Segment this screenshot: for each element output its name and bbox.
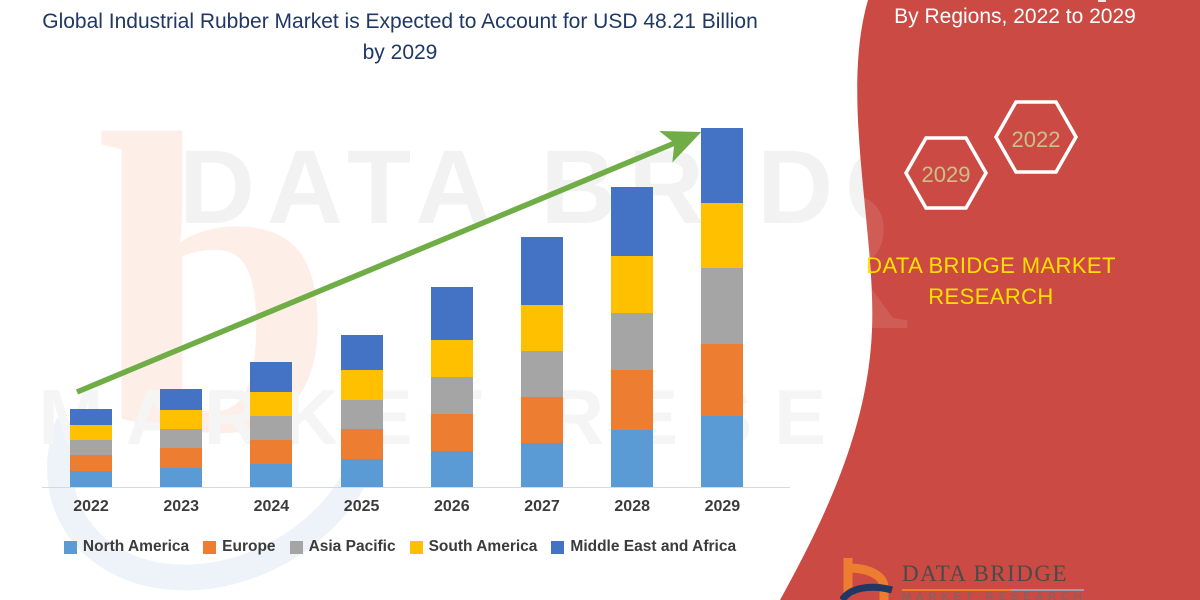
legend-label: Middle East and Africa xyxy=(570,538,736,556)
bar-segment xyxy=(431,287,473,340)
x-axis-label-2023: 2023 xyxy=(136,498,226,516)
x-axis-label-2025: 2025 xyxy=(317,498,407,516)
bar-segment xyxy=(341,335,383,370)
x-axis-label-2027: 2027 xyxy=(497,498,587,516)
data-bridge-logo: DATA BRIDGE MARKET RESEARCH xyxy=(840,556,1180,600)
legend-item[interactable]: South America xyxy=(410,538,538,556)
bar-segment xyxy=(250,464,292,487)
bar-segment xyxy=(341,459,383,487)
bridge-mark-icon xyxy=(840,556,900,600)
bar-segment xyxy=(160,410,202,429)
legend-swatch xyxy=(410,541,423,554)
bar-segment xyxy=(250,416,292,440)
bar-segment xyxy=(701,128,743,203)
bar-2028[interactable] xyxy=(611,187,653,487)
x-axis-label-2022: 2022 xyxy=(46,498,136,516)
hexagon-2029-label: 2029 xyxy=(836,162,1056,188)
bar-2022[interactable] xyxy=(70,409,112,487)
bar-segment xyxy=(611,313,653,370)
legend-label: Asia Pacific xyxy=(309,538,396,556)
bar-segment xyxy=(521,443,563,487)
legend-swatch xyxy=(64,541,77,554)
hexagon-group: 2022 2029 xyxy=(888,98,1108,228)
bar-segment xyxy=(701,203,743,268)
bar-segment xyxy=(70,409,112,425)
legend-swatch xyxy=(290,541,303,554)
bar-segment xyxy=(160,429,202,448)
legend-item[interactable]: North America xyxy=(64,538,189,556)
x-axis-labels: 20222023202420252026202720282029 xyxy=(0,498,800,522)
panel-brand-line1: DATA BRIDGE MARKET xyxy=(816,250,1166,281)
bar-2023[interactable] xyxy=(160,389,202,487)
panel-subtitle: By Regions, 2022 to 2029 xyxy=(840,2,1190,32)
bar-segment xyxy=(160,448,202,468)
bar-segment xyxy=(70,455,112,471)
legend-item[interactable]: Middle East and Africa xyxy=(551,538,736,556)
bar-segment xyxy=(341,400,383,429)
bar-segment xyxy=(521,237,563,305)
bar-segment xyxy=(160,468,202,487)
bar-segment xyxy=(521,351,563,397)
logo-name: DATA BRIDGE xyxy=(902,561,1068,587)
legend-label: South America xyxy=(429,538,538,556)
bar-segment xyxy=(611,256,653,313)
legend-label: North America xyxy=(83,538,189,556)
bar-segment xyxy=(250,362,292,392)
bar-segment xyxy=(701,268,743,344)
bar-segment xyxy=(250,440,292,464)
right-red-panel: R By Regions, 2022 to 2029 2022 2029 DAT… xyxy=(780,0,1200,600)
bar-2029[interactable] xyxy=(701,128,743,487)
legend-item[interactable]: Asia Pacific xyxy=(290,538,396,556)
chart-plot-area: 20222023202420252026202720282029 North A… xyxy=(0,0,800,600)
bar-2024[interactable] xyxy=(250,362,292,487)
legend-swatch xyxy=(203,541,216,554)
bar-segment xyxy=(341,370,383,400)
bar-segment xyxy=(521,305,563,351)
bar-segment xyxy=(341,429,383,459)
panel-brand-line2: RESEARCH xyxy=(816,281,1166,312)
bar-segment xyxy=(70,440,112,455)
x-axis-label-2024: 2024 xyxy=(226,498,316,516)
x-axis-label-2026: 2026 xyxy=(407,498,497,516)
infographic-canvas: b DATA BRIDGE MARKET RESEARCH Global Ind… xyxy=(0,0,1200,600)
chart-legend: North AmericaEuropeAsia PacificSouth Ame… xyxy=(0,538,800,556)
bar-segment xyxy=(431,377,473,414)
legend-swatch xyxy=(551,541,564,554)
bar-segment xyxy=(70,425,112,440)
bar-segment xyxy=(160,389,202,410)
legend-item[interactable]: Europe xyxy=(203,538,275,556)
bar-2025[interactable] xyxy=(341,335,383,487)
bar-segment xyxy=(431,451,473,487)
x-axis-label-2028: 2028 xyxy=(587,498,677,516)
bar-segment xyxy=(431,340,473,377)
legend-label: Europe xyxy=(222,538,275,556)
bar-segment xyxy=(250,392,292,416)
panel-brand: DATA BRIDGE MARKET RESEARCH xyxy=(816,250,1166,312)
bar-segment xyxy=(701,344,743,416)
bar-segment xyxy=(701,416,743,487)
x-axis-label-2029: 2029 xyxy=(677,498,767,516)
bar-2026[interactable] xyxy=(431,287,473,487)
bar-2027[interactable] xyxy=(521,237,563,487)
bar-segment xyxy=(521,397,563,443)
hexagon-2022-label: 2022 xyxy=(926,127,1146,153)
logo-tagline: MARKET RESEARCH xyxy=(902,591,1087,600)
bar-segment xyxy=(431,414,473,451)
bar-segment xyxy=(611,187,653,256)
bar-segment xyxy=(70,471,112,487)
bar-segment xyxy=(611,370,653,430)
bar-segment xyxy=(611,430,653,487)
chart-baseline xyxy=(42,487,790,488)
